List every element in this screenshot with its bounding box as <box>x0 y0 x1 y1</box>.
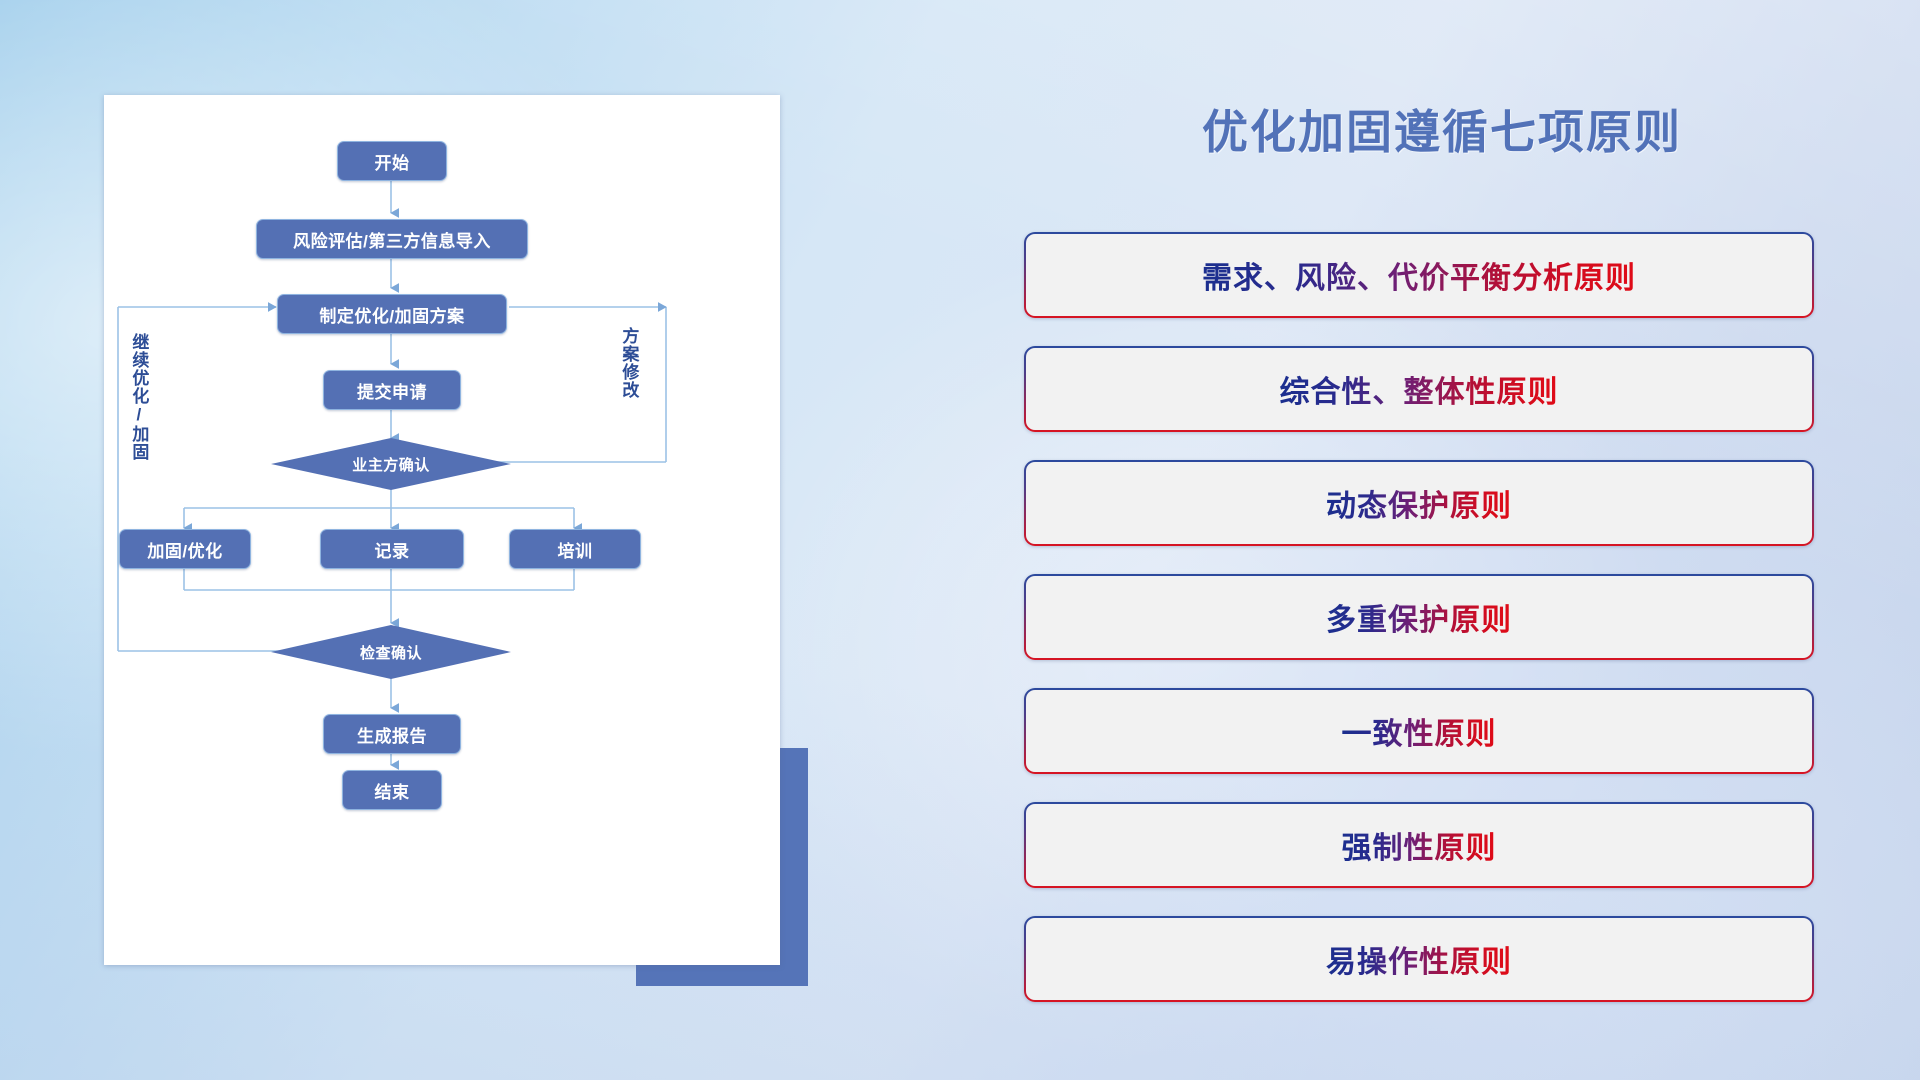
flow-node-label: 生成报告 <box>357 722 427 747</box>
principle-card-inner: 需求、风险、代价平衡分析原则 <box>1026 234 1812 316</box>
principle-label: 多重保护原则 <box>1326 595 1512 639</box>
principle-label: 动态保护原则 <box>1326 481 1512 525</box>
principle-card[interactable]: 易操作性原则 <box>1024 916 1814 1002</box>
flow-decision-owner-confirm[interactable]: 业主方确认 <box>271 438 511 490</box>
principle-label: 综合性、整体性原则 <box>1280 367 1559 411</box>
principle-card[interactable]: 一致性原则 <box>1024 688 1814 774</box>
flow-edge-label-right-loop: 方案修改 <box>620 327 637 399</box>
flow-node-label: 风险评估/第三方信息导入 <box>293 227 491 252</box>
flow-node-label: 培训 <box>558 537 593 562</box>
principle-label: 易操作性原则 <box>1326 937 1512 981</box>
flow-node-record[interactable]: 记录 <box>320 529 464 569</box>
flow-node-submit-application[interactable]: 提交申请 <box>323 370 461 410</box>
flow-node-label: 加固/优化 <box>147 537 222 562</box>
flow-node-training[interactable]: 培训 <box>509 529 641 569</box>
principle-card-inner: 多重保护原则 <box>1026 576 1812 658</box>
flow-node-label: 结束 <box>375 778 410 803</box>
flowchart: 开始 风险评估/第三方信息导入 制定优化/加固方案 提交申请 业主方确认 加固/… <box>104 95 780 965</box>
flow-node-plan[interactable]: 制定优化/加固方案 <box>277 294 507 334</box>
principle-card-inner: 动态保护原则 <box>1026 462 1812 544</box>
principle-card[interactable]: 综合性、整体性原则 <box>1024 346 1814 432</box>
principle-card-inner: 易操作性原则 <box>1026 918 1812 1000</box>
principle-label: 强制性原则 <box>1342 823 1497 867</box>
flowchart-panel: 开始 风险评估/第三方信息导入 制定优化/加固方案 提交申请 业主方确认 加固/… <box>104 95 780 965</box>
flow-node-label: 提交申请 <box>357 378 427 403</box>
principle-card[interactable]: 需求、风险、代价平衡分析原则 <box>1024 232 1814 318</box>
principle-card[interactable]: 多重保护原则 <box>1024 574 1814 660</box>
flow-decision-inspection-confirm[interactable]: 检查确认 <box>271 625 511 679</box>
flow-node-end[interactable]: 结束 <box>342 770 442 810</box>
flow-node-label: 开始 <box>375 149 410 174</box>
principle-label: 需求、风险、代价平衡分析原则 <box>1202 253 1636 297</box>
flow-node-label: 业主方确认 <box>352 454 430 475</box>
principle-card-inner: 综合性、整体性原则 <box>1026 348 1812 430</box>
principle-label: 一致性原则 <box>1342 709 1497 753</box>
flow-node-label: 检查确认 <box>360 642 422 663</box>
flow-edge-label-left-loop: 继续优化/加固 <box>130 333 147 461</box>
flow-node-start[interactable]: 开始 <box>337 141 447 181</box>
principle-card-inner: 强制性原则 <box>1026 804 1812 886</box>
principle-card[interactable]: 强制性原则 <box>1024 802 1814 888</box>
flow-node-label: 记录 <box>375 537 410 562</box>
principle-card[interactable]: 动态保护原则 <box>1024 460 1814 546</box>
flow-node-label: 制定优化/加固方案 <box>319 302 464 327</box>
slide-canvas: 开始 风险评估/第三方信息导入 制定优化/加固方案 提交申请 业主方确认 加固/… <box>0 0 1920 1080</box>
flow-node-risk-assessment[interactable]: 风险评估/第三方信息导入 <box>256 219 528 259</box>
flow-node-generate-report[interactable]: 生成报告 <box>323 714 461 754</box>
principles-list: 需求、风险、代价平衡分析原则 综合性、整体性原则 动态保护原则 多重保护原则 一… <box>1024 232 1814 1030</box>
principle-card-inner: 一致性原则 <box>1026 690 1812 772</box>
principles-title: 优化加固遵循七项原则 <box>1022 96 1862 162</box>
flow-node-reinforce-optimize[interactable]: 加固/优化 <box>119 529 251 569</box>
